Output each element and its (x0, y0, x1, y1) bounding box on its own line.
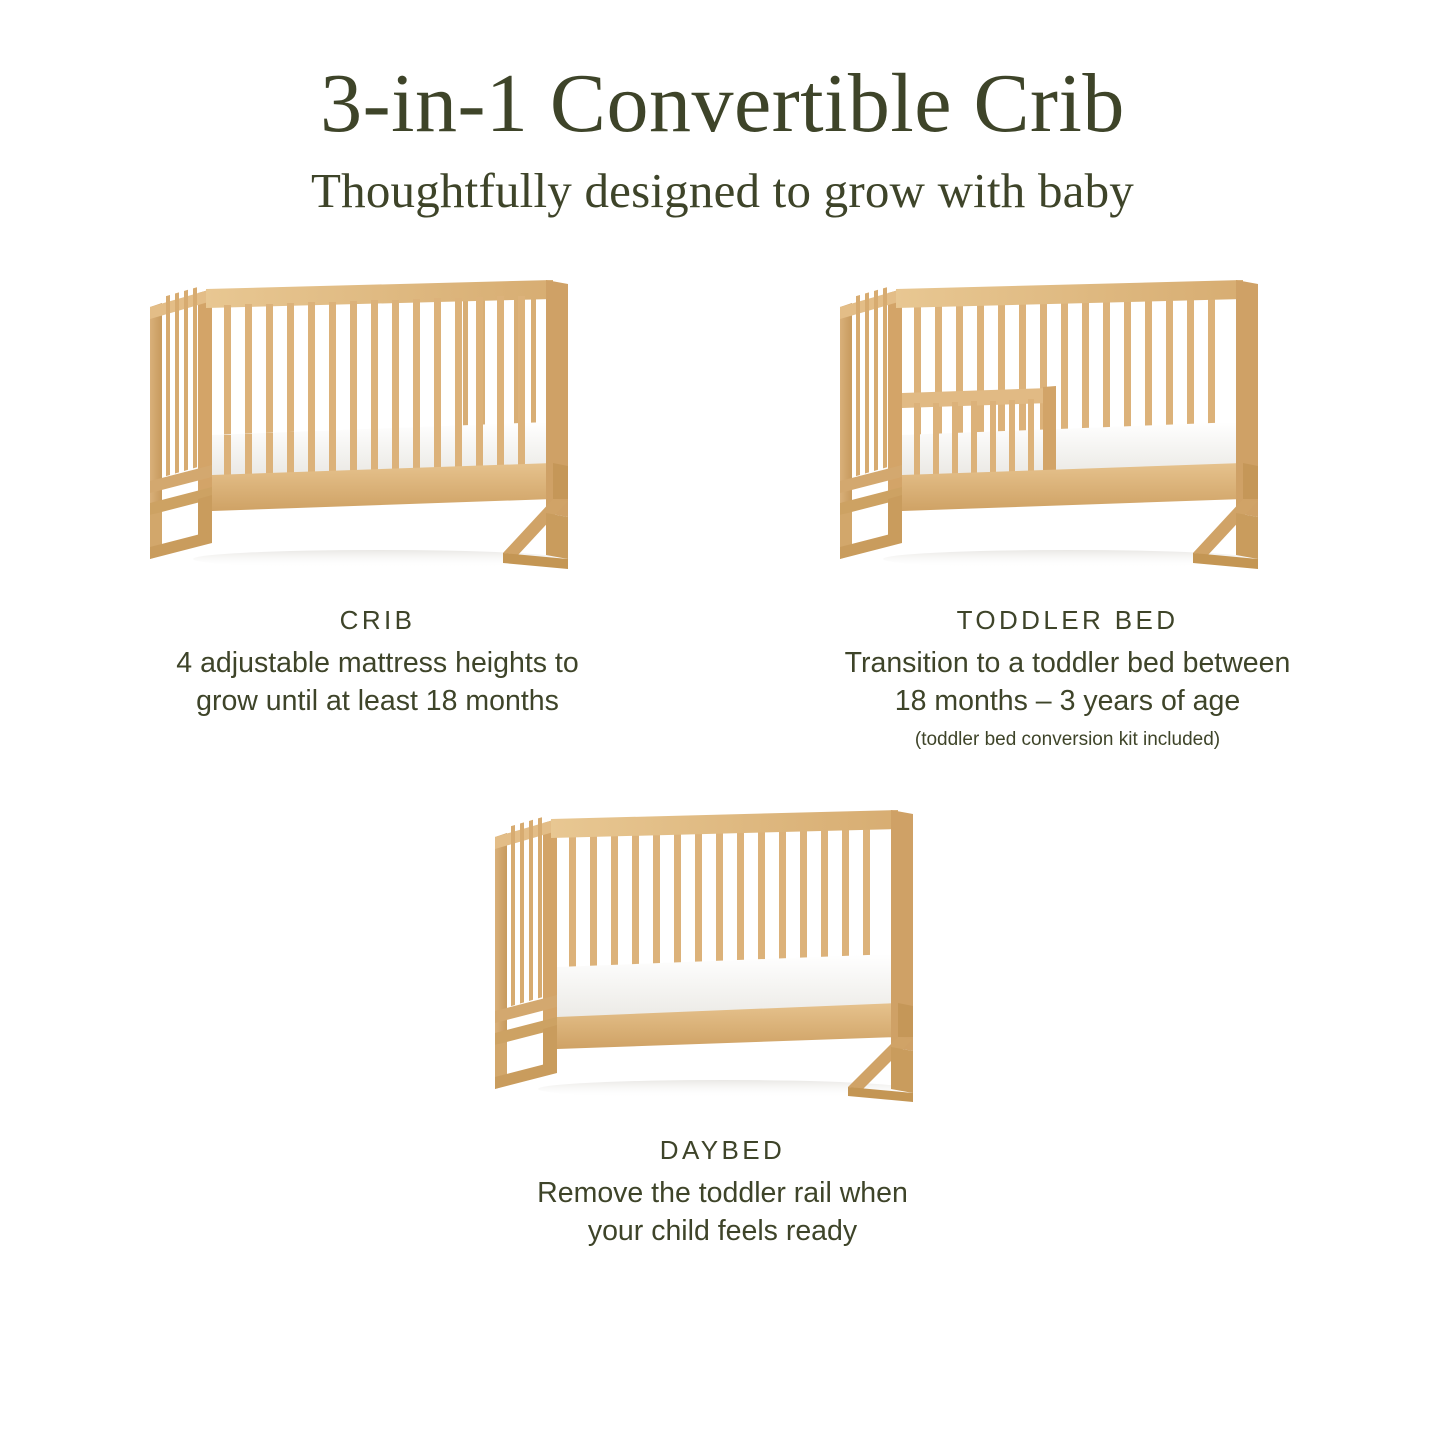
mode-label-daybed: DAYBED (537, 1135, 908, 1166)
right-leg (503, 499, 568, 569)
right-leg (1193, 499, 1258, 569)
product-card-toddler-bed: TODDLER BED Transition to a toddler bed … (798, 267, 1338, 753)
left-side-panel (495, 817, 557, 1089)
mode-note-toddler-bed: (toddler bed conversion kit included) (845, 728, 1291, 753)
crib-illustration (128, 267, 628, 587)
desc-line-1: 4 adjustable mattress heights to (176, 645, 578, 683)
mode-label-toddler-bed: TODDLER BED (845, 605, 1291, 636)
mode-label-crib: CRIB (176, 605, 578, 636)
caption-daybed: DAYBED Remove the toddler rail when your… (537, 1135, 908, 1251)
desc-line-2: your child feels ready (537, 1213, 908, 1251)
product-card-crib: CRIB 4 adjustable mattress heights to gr… (108, 267, 648, 721)
mode-description-crib: 4 adjustable mattress heights to grow un… (176, 645, 578, 721)
right-post-base (898, 1003, 913, 1037)
header: 3-in-1 Convertible Crib Thoughtfully des… (0, 0, 1445, 215)
mode-description-daybed: Remove the toddler rail when your child … (537, 1175, 908, 1251)
left-side-panel (840, 287, 902, 559)
right-post-base (553, 463, 568, 499)
product-row-top: CRIB 4 adjustable mattress heights to gr… (0, 267, 1445, 753)
toddler-bed-illustration (818, 267, 1318, 587)
left-side-panel (150, 287, 212, 559)
right-post-base (1243, 463, 1258, 499)
daybed-illustration (473, 797, 973, 1117)
infographic-page: 3-in-1 Convertible Crib Thoughtfully des… (0, 0, 1445, 1445)
product-card-daybed: DAYBED Remove the toddler rail when your… (453, 797, 993, 1251)
product-row-bottom: DAYBED Remove the toddler rail when your… (0, 797, 1445, 1251)
desc-line-1: Remove the toddler rail when (537, 1175, 908, 1213)
desc-line-2: 18 months – 3 years of age (845, 683, 1291, 721)
page-subtitle: Thoughtfully designed to grow with baby (0, 166, 1445, 215)
page-title: 3-in-1 Convertible Crib (0, 62, 1445, 146)
desc-line-1: Transition to a toddler bed between (845, 645, 1291, 683)
caption-toddler-bed: TODDLER BED Transition to a toddler bed … (845, 605, 1291, 753)
mode-description-toddler-bed: Transition to a toddler bed between 18 m… (845, 645, 1291, 721)
right-leg (848, 1037, 913, 1102)
caption-crib: CRIB 4 adjustable mattress heights to gr… (176, 605, 578, 721)
desc-line-2: grow until at least 18 months (176, 683, 578, 721)
